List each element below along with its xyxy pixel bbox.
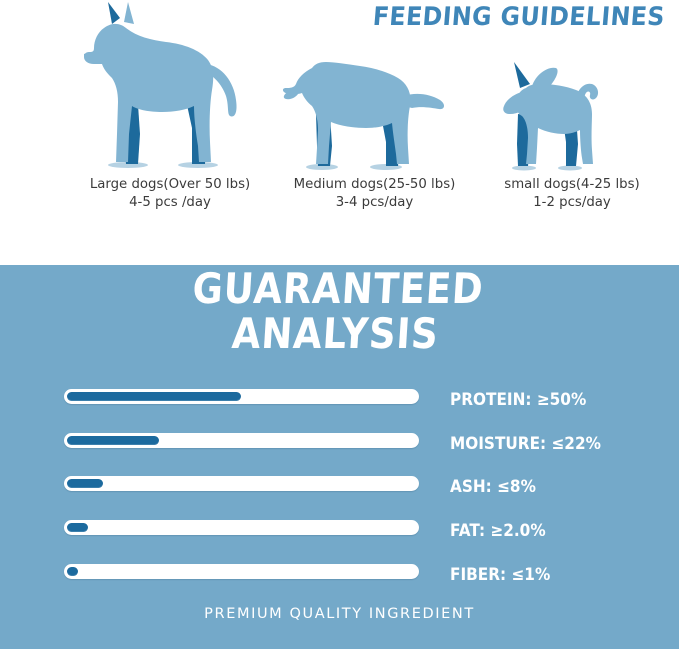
bar-label-protein: PROTEIN: ≥50%: [450, 390, 586, 410]
dog-caption-large-line2: 4-5 pcs /day: [45, 194, 295, 212]
bar-fill-moisture: [67, 436, 159, 445]
dog-figure-medium: [282, 48, 452, 174]
dog-caption-medium-line2: 3-4 pcs/day: [272, 194, 477, 212]
bar-track-fat: [64, 520, 419, 535]
dog-caption-medium-line1: Medium dogs(25-50 lbs): [272, 176, 477, 194]
dog-figure-small: [492, 58, 612, 174]
bar-row-fat: [64, 520, 419, 535]
dog-caption-small: small dogs(4-25 lbs) 1-2 pcs/day: [472, 176, 672, 212]
dog-figure-large: [58, 2, 273, 174]
dog-caption-large: Large dogs(Over 50 lbs) 4-5 pcs /day: [45, 176, 295, 212]
bar-row-protein: [64, 389, 419, 404]
bar-fill-protein: [67, 392, 241, 401]
chihuahua-icon: [492, 58, 612, 174]
bar-label-moisture: MOISTURE: ≤22%: [450, 434, 601, 454]
tagline: PREMIUM QUALITY INGREDIENT: [0, 606, 679, 622]
dog-caption-small-line2: 1-2 pcs/day: [472, 194, 672, 212]
bar-label-fat: FAT: ≥2.0%: [450, 521, 546, 541]
bar-track-ash: [64, 476, 419, 491]
feeding-guidelines-title: FEEDING GUIDELINES: [372, 2, 663, 32]
bar-fill-fat: [67, 523, 88, 532]
bar-label-ash: ASH: ≤8%: [450, 477, 536, 497]
bar-fill-ash: [67, 479, 103, 488]
bar-track-fiber: [64, 564, 419, 579]
dog-caption-large-line1: Large dogs(Over 50 lbs): [45, 176, 295, 194]
bar-row-moisture: [64, 433, 419, 448]
bar-fill-fiber: [67, 567, 78, 576]
bar-row-fiber: [64, 564, 419, 579]
great-dane-icon: [58, 2, 273, 174]
bar-row-ash: [64, 476, 419, 491]
dog-caption-small-line1: small dogs(4-25 lbs): [472, 176, 672, 194]
dog-caption-medium: Medium dogs(25-50 lbs) 3-4 pcs/day: [272, 176, 477, 212]
feeding-guidelines-section: FEEDING GUIDELINES Large dogs(Over 50 lb…: [0, 0, 679, 265]
bar-label-fiber: FIBER: ≤1%: [450, 565, 550, 585]
labrador-icon: [282, 48, 452, 174]
